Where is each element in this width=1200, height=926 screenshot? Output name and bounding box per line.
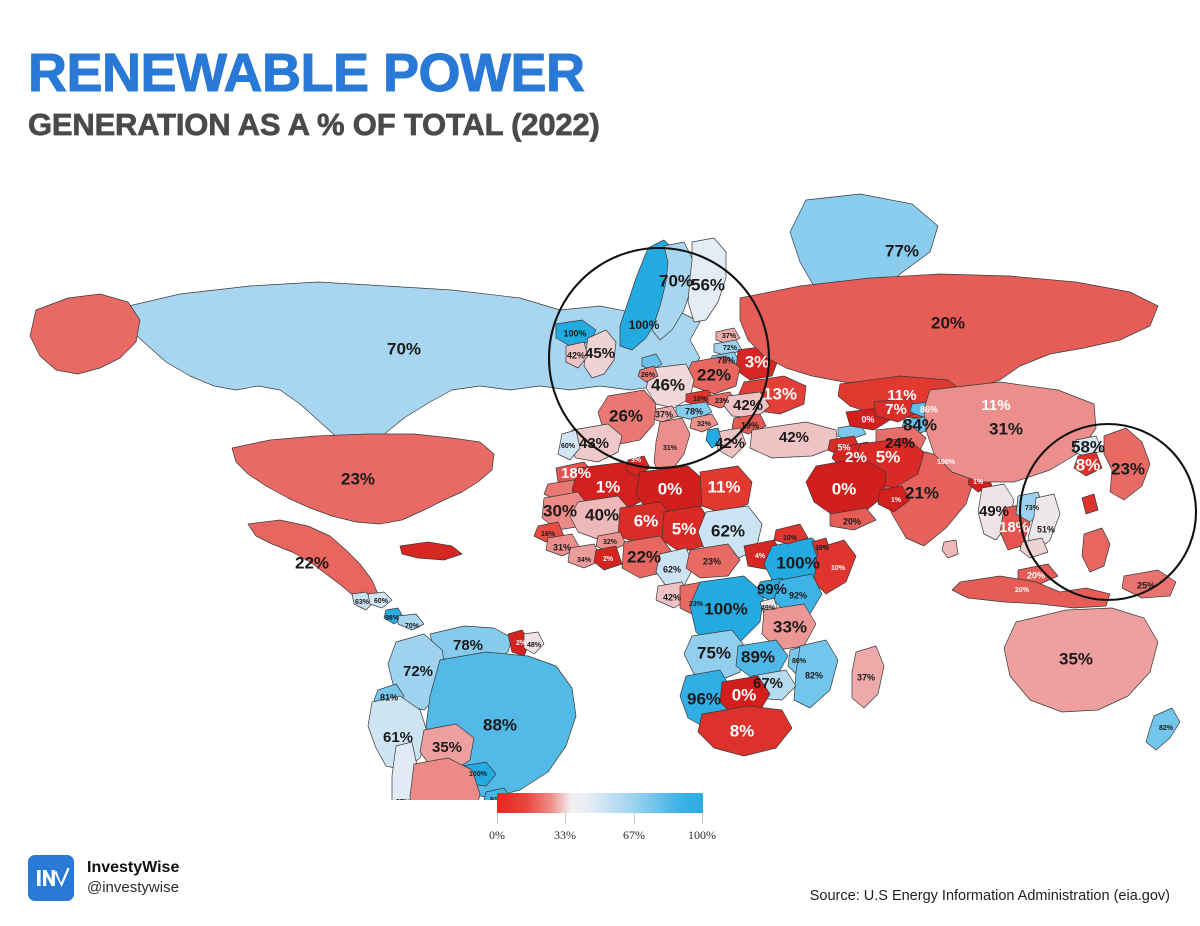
country-alaska[interactable]: Alaska: 23% <box>30 294 140 374</box>
legend-label-67: 67% <box>623 828 645 843</box>
country-mozambique[interactable]: Mozambique: 82% <box>794 640 838 708</box>
country-united-states[interactable]: United States: 23% <box>232 434 494 524</box>
country-shapes[interactable]: Greenland: 77%Canada: 70%Alaska: 23%Unit… <box>30 194 1180 800</box>
country-new-zealand[interactable]: New Zealand: 82% <box>1146 708 1180 750</box>
country-panama[interactable]: Panama: 70% <box>398 614 424 630</box>
country-papua-new-guinea[interactable]: Papua New Guinea: 25% <box>1122 570 1176 598</box>
country-honduras[interactable]: Honduras: 60% <box>368 592 392 608</box>
country-australia[interactable]: Australia: 35% <box>1004 608 1158 712</box>
logo-mark-icon <box>28 855 74 901</box>
country-sri-lanka[interactable]: Sri Lanka: 40% <box>942 540 958 558</box>
brand-names: InvestyWise @investywise <box>87 858 179 898</box>
brand-name: InvestyWise <box>87 858 179 878</box>
country-suriname[interactable]: Suriname: 48% <box>524 632 544 654</box>
color-scale-legend: 0% 33% 67% 100% <box>497 793 703 846</box>
country-japan[interactable]: Japan: 23% <box>1104 428 1150 500</box>
header-block: RENEWABLE POWER GENERATION AS A % OF TOT… <box>28 44 600 142</box>
country-madagascar[interactable]: Madagascar: 37% <box>852 646 884 708</box>
world-map-svg[interactable]: Greenland: 77%Canada: 70%Alaska: 23%Unit… <box>0 190 1200 800</box>
page-subtitle: GENERATION AS A % OF TOTAL (2022) <box>28 108 600 142</box>
legend-label-0: 0% <box>489 828 505 843</box>
country-poland[interactable]: Poland: 22% <box>686 356 740 394</box>
legend-tick-labels: 0% 33% 67% 100% <box>485 828 715 846</box>
country-ghana[interactable]: Ghana: 2% <box>594 546 622 570</box>
country-south-africa[interactable]: South Africa: 8% <box>698 706 792 756</box>
investywise-logo <box>28 855 74 901</box>
country-mexico[interactable]: Mexico: 22% <box>248 520 378 604</box>
page-title: RENEWABLE POWER <box>28 44 600 102</box>
source-note: Source: U.S Energy Information Administr… <box>810 888 1170 904</box>
legend-label-33: 33% <box>554 828 576 843</box>
legend-gradient-bar <box>497 793 703 813</box>
country-saudi-arabia[interactable]: Saudi Arabia: 0% <box>806 458 886 516</box>
country-taiwan[interactable]: Taiwan: 9% <box>1082 494 1098 514</box>
country-philippines[interactable]: Philippines: 22% <box>1082 528 1110 572</box>
brand-handle: @investywise <box>87 878 179 898</box>
brand-block[interactable]: InvestyWise @investywise <box>28 855 179 901</box>
country-central-african-republic[interactable]: Central African Republic: 23% <box>686 544 740 578</box>
world-map[interactable]: Greenland: 77%Canada: 70%Alaska: 23%Unit… <box>0 190 1200 800</box>
legend-label-100: 100% <box>688 828 716 843</box>
country-russia[interactable]: Russia: 20% <box>740 274 1158 390</box>
country-cuba[interactable]: Cuba: 4% <box>400 542 462 560</box>
country-south-korea[interactable]: South Korea: 8% <box>1074 452 1102 476</box>
country-finland[interactable]: Finland: 56% <box>688 238 726 322</box>
infographic-root: RENEWABLE POWER GENERATION AS A % OF TOT… <box>0 0 1200 926</box>
legend-ticks <box>497 813 703 827</box>
country-somalia[interactable]: Somalia: 10% <box>814 540 856 594</box>
